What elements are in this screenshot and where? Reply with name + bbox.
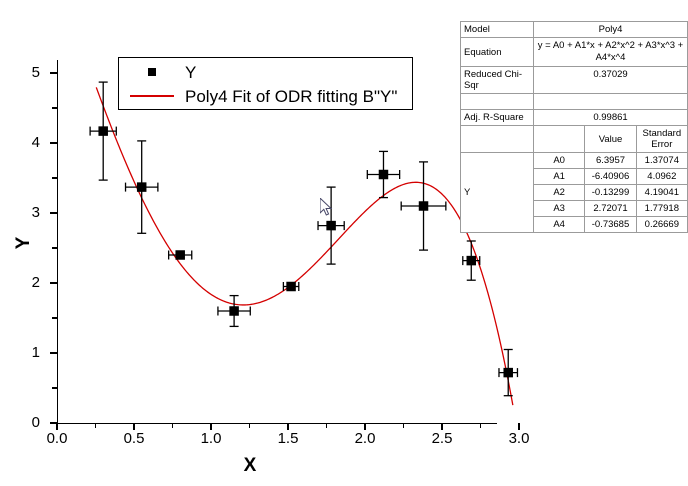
col-header-value: Value (585, 126, 636, 153)
x-tick-major (518, 423, 519, 430)
legend-box[interactable]: Y Poly4 Fit of ODR fitting B"Y" (118, 57, 413, 110)
blank-param-cell (534, 126, 585, 153)
param-stderr: 1.37074 (636, 153, 687, 169)
plot-area[interactable]: 0123450.00.51.01.52.02.53.0 X Y Y Poly4 … (0, 0, 688, 486)
x-tick-label: 2.5 (419, 431, 465, 446)
table-row-spacer (461, 94, 688, 110)
param-value: 6.3957 (585, 153, 636, 169)
arrow-pointer-icon (320, 198, 334, 218)
data-point-marker[interactable] (229, 306, 239, 316)
param-stderr: 0.26669 (636, 217, 687, 233)
y-tick-minor (52, 387, 57, 388)
legend-entry-fit[interactable]: Poly4 Fit of ODR fitting B"Y" (119, 83, 397, 109)
x-tick-minor (95, 423, 96, 428)
param-name: A1 (534, 169, 585, 185)
y-tick-minor (52, 317, 57, 318)
param-stderr: 1.77918 (636, 201, 687, 217)
param-value: -0.73685 (585, 217, 636, 233)
table-row-reduced-chisqr: Reduced Chi-Sqr 0.37029 (461, 67, 688, 94)
x-tick-major (56, 423, 57, 430)
data-point-marker[interactable] (326, 221, 336, 231)
legend-label-scatter: Y (185, 64, 196, 81)
data-markers[interactable] (98, 126, 513, 377)
x-tick-minor (249, 423, 250, 428)
param-stderr: 4.0962 (636, 169, 687, 185)
x-tick-minor (172, 423, 173, 428)
fit-curve-path (96, 87, 513, 405)
adj-rsquare-label: Adj. R-Square (461, 110, 534, 126)
data-point-marker[interactable] (98, 126, 108, 136)
y-tick-minor (52, 247, 57, 248)
model-label: Model (461, 22, 534, 38)
param-name: A4 (534, 217, 585, 233)
x-tick-label: 2.0 (342, 431, 388, 446)
data-point-marker[interactable] (379, 170, 389, 180)
data-point-marker[interactable] (137, 182, 147, 192)
y-tick-major (50, 352, 57, 353)
param-stderr: 4.19041 (636, 185, 687, 201)
x-tick-major (364, 423, 365, 430)
x-tick-label: 0.0 (34, 431, 80, 446)
error-bars (90, 82, 517, 396)
param-name: A2 (534, 185, 585, 201)
equation-value: y = A0 + A1*x + A2*x^2 + A3*x^3 + A4*x^4 (534, 38, 688, 67)
table-row-param: Y A0 6.3957 1.37074 (461, 153, 688, 169)
x-tick-minor (326, 423, 327, 428)
adj-rsquare-value: 0.99861 (534, 110, 688, 126)
legend-label-fit: Poly4 Fit of ODR fitting B"Y" (185, 88, 397, 105)
data-point-marker[interactable] (467, 256, 477, 266)
x-tick-major (287, 423, 288, 430)
param-name: A3 (534, 201, 585, 217)
reduced-chisqr-value: 0.37029 (534, 67, 688, 94)
x-tick-label: 1.5 (265, 431, 311, 446)
series-name-cell: Y (461, 153, 534, 233)
fit-results-table[interactable]: Model Poly4 Equation y = A0 + A1*x + A2*… (460, 21, 688, 233)
param-value: 2.72071 (585, 201, 636, 217)
y-tick-label: 4 (0, 135, 40, 150)
fit-curve (96, 87, 513, 405)
data-point-marker[interactable] (503, 368, 512, 378)
model-value: Poly4 (534, 22, 688, 38)
y-axis-title: Y (13, 213, 35, 273)
param-value: -0.13299 (585, 185, 636, 201)
table-row-model: Model Poly4 (461, 22, 688, 38)
y-tick-major (50, 212, 57, 213)
table-row-equation: Equation y = A0 + A1*x + A2*x^2 + A3*x^3… (461, 38, 688, 67)
y-tick-label: 5 (0, 65, 40, 80)
x-tick-label: 3.0 (496, 431, 542, 446)
legend-entry-scatter[interactable]: Y (119, 59, 196, 85)
y-tick-label: 0 (0, 415, 40, 430)
x-tick-minor (480, 423, 481, 428)
y-tick-major (50, 72, 57, 73)
x-tick-major (441, 423, 442, 430)
reduced-chisqr-label: Reduced Chi-Sqr (461, 67, 534, 94)
table-row-adj-rsquare: Adj. R-Square 0.99861 (461, 110, 688, 126)
table-row-column-headers: Value Standard Error (461, 126, 688, 153)
param-value: -6.40906 (585, 169, 636, 185)
x-axis-line (57, 423, 497, 424)
y-tick-minor (52, 177, 57, 178)
y-tick-label: 1 (0, 345, 40, 360)
blank-corner-cell (461, 126, 534, 153)
y-tick-minor (52, 107, 57, 108)
param-name: A0 (534, 153, 585, 169)
y-tick-label: 2 (0, 275, 40, 290)
x-tick-minor (403, 423, 404, 428)
x-tick-major (210, 423, 211, 430)
x-tick-label: 0.5 (111, 431, 157, 446)
data-point-marker[interactable] (419, 201, 429, 211)
equation-label: Equation (461, 38, 534, 67)
data-point-marker[interactable] (286, 282, 296, 292)
x-axis-title: X (0, 455, 500, 477)
spacer-cell-right (534, 94, 688, 110)
spacer-cell-left (461, 94, 534, 110)
x-tick-label: 1.0 (188, 431, 234, 446)
data-point-marker[interactable] (175, 250, 185, 260)
line-swatch-icon (119, 95, 185, 97)
square-marker-icon (119, 68, 185, 76)
col-header-stderr: Standard Error (636, 126, 687, 153)
x-tick-major (133, 423, 134, 430)
y-tick-major (50, 282, 57, 283)
y-tick-major (50, 142, 57, 143)
y-axis-line (57, 60, 58, 424)
